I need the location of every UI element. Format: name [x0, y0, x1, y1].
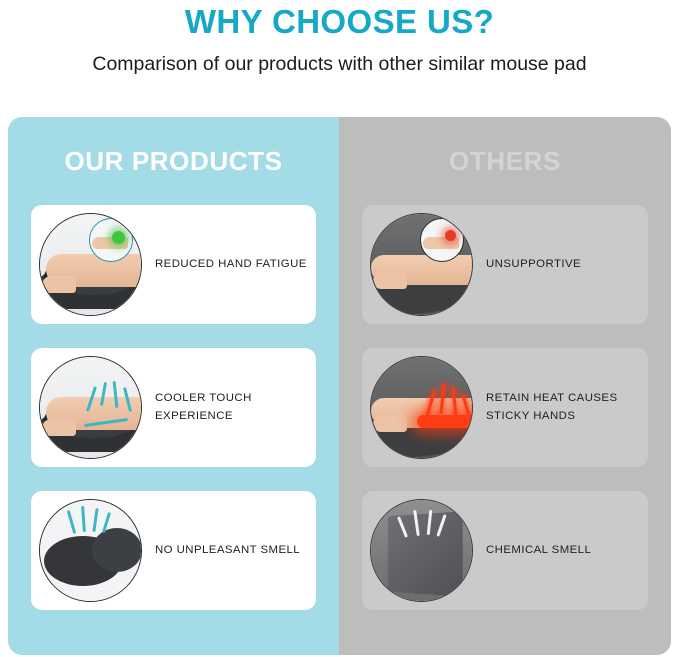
feature-label-retain-heat-sticky-hands: RETAIN HEAT CAUSES STICKY HANDS	[473, 390, 618, 425]
inset-magnifier-bad	[420, 218, 464, 262]
others-card-list: UNSUPPORTIVE	[339, 205, 671, 610]
feature-card-reduced-hand-fatigue[interactable]: REDUCED HAND FATIGUE	[31, 205, 316, 324]
inset-magnifier-good	[89, 218, 133, 262]
image-black-pad-fresh-air-lines	[39, 499, 142, 602]
our-products-card-list: REDUCED HAND FATIGUE	[8, 205, 339, 610]
comparison-panel: OUR PRODUCTS	[8, 117, 671, 655]
image-hand-pad-cool-airflow	[39, 356, 142, 459]
green-comfort-dot-icon	[112, 231, 125, 244]
column-others: OTHERS	[339, 117, 671, 655]
feature-label-cooler-touch-experience: COOLER TOUCH EXPERIENCE	[142, 390, 252, 425]
feature-label-reduced-hand-fatigue: REDUCED HAND FATIGUE	[142, 256, 307, 274]
feature-label-no-unpleasant-smell: NO UNPLEASANT SMELL	[142, 542, 300, 560]
page-title: WHY CHOOSE US?	[0, 4, 679, 40]
feature-card-unsupportive[interactable]: UNSUPPORTIVE	[362, 205, 648, 324]
feature-label-unsupportive: UNSUPPORTIVE	[473, 256, 581, 274]
image-hand-pad-red-heat-glow	[370, 356, 473, 459]
image-hand-ergonomic-pad-green-highlight	[39, 213, 142, 316]
column-heading-others: OTHERS	[339, 117, 671, 205]
feature-card-chemical-smell[interactable]: CHEMICAL SMELL	[362, 491, 648, 610]
column-our-products: OUR PRODUCTS	[8, 117, 339, 655]
red-pain-dot-icon	[445, 230, 456, 241]
column-heading-our-products: OUR PRODUCTS	[8, 117, 339, 205]
feature-card-retain-heat-sticky-hands[interactable]: RETAIN HEAT CAUSES STICKY HANDS	[362, 348, 648, 467]
image-hand-flat-pad-red-pain-point	[370, 213, 473, 316]
feature-card-no-unpleasant-smell[interactable]: NO UNPLEASANT SMELL	[31, 491, 316, 610]
header: WHY CHOOSE US? Comparison of our product…	[0, 0, 679, 76]
feature-card-cooler-touch-experience[interactable]: COOLER TOUCH EXPERIENCE	[31, 348, 316, 467]
image-flat-pad-odor-wisps	[370, 499, 473, 602]
comparison-infographic: WHY CHOOSE US? Comparison of our product…	[0, 0, 679, 657]
page-subtitle: Comparison of our products with other si…	[0, 53, 679, 75]
feature-label-chemical-smell: CHEMICAL SMELL	[473, 542, 591, 560]
